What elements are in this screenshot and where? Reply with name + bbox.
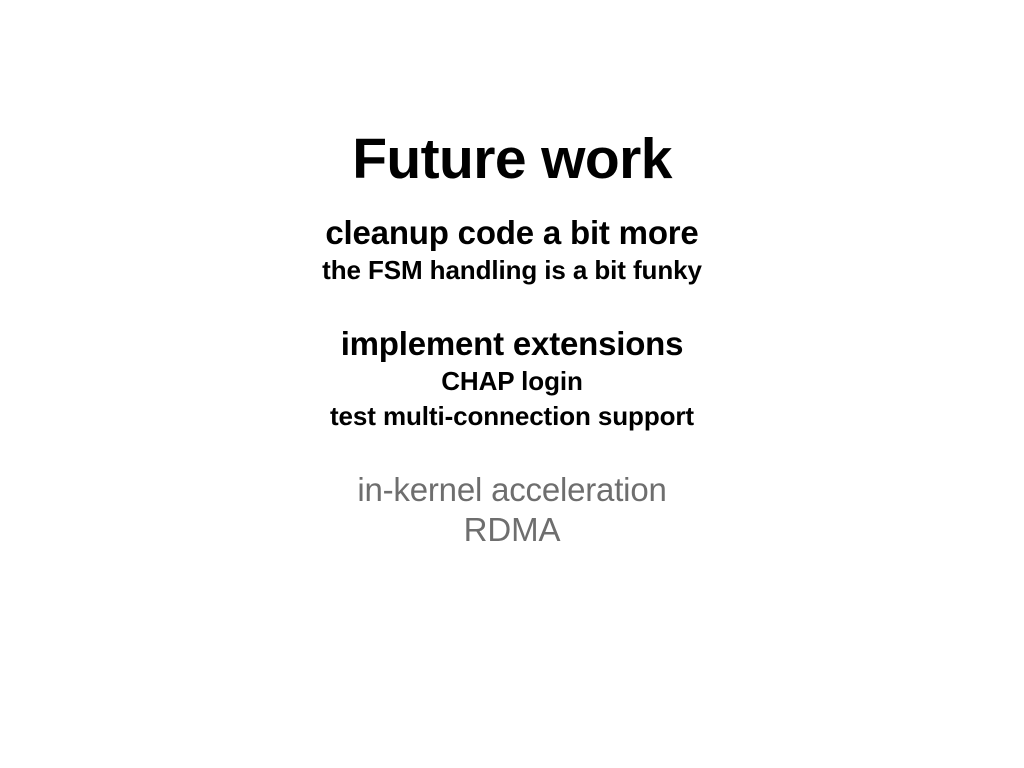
content-block-cleanup: cleanup code a bit more the FSM handling… [0,214,1024,287]
block-heading: cleanup code a bit more [0,214,1024,253]
block-detail: test multi-connection support [0,399,1024,433]
content-block-extensions: implement extensions CHAP login test mul… [0,325,1024,433]
slide-title: Future work [0,130,1024,189]
content-block-acceleration: in-kernel acceleration RDMA [0,471,1024,550]
block-heading: implement extensions [0,325,1024,364]
block-heading: in-kernel acceleration [0,471,1024,510]
block-detail: the FSM handling is a bit funky [0,253,1024,287]
slide: Future work cleanup code a bit more the … [0,0,1024,768]
block-detail: CHAP login [0,364,1024,398]
block-detail: RDMA [0,510,1024,550]
slide-content: cleanup code a bit more the FSM handling… [0,214,1024,550]
